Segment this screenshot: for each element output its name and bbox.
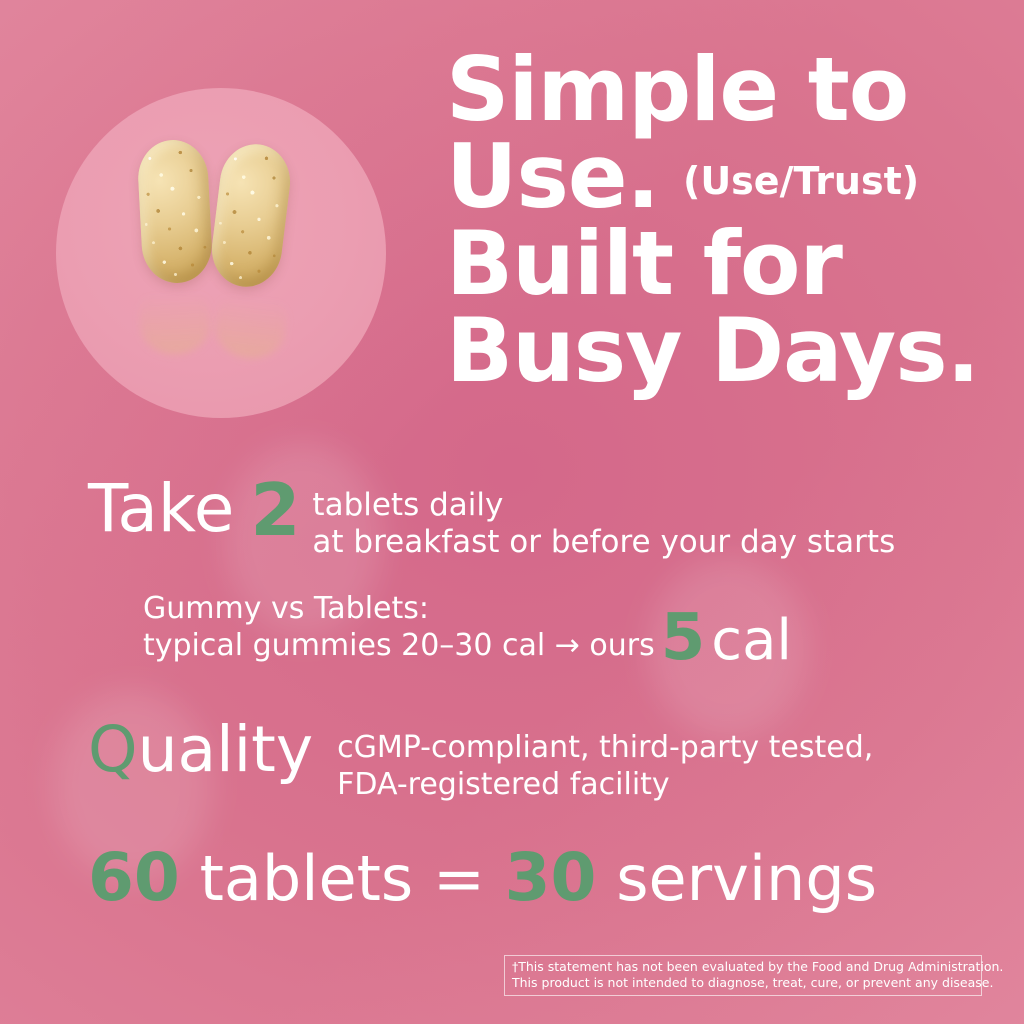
servings-tablets-label: tablets <box>200 842 414 915</box>
tablet-right-icon <box>208 140 295 290</box>
calorie-value-group: 5 cal <box>661 613 792 664</box>
headline: Simple to Use.(Use/Trust) Built for Busy… <box>446 46 1012 394</box>
dose-row: Take 2 tablets daily at breakfast or bef… <box>88 476 895 560</box>
headline-kicker: (Use/Trust) <box>683 159 919 203</box>
fda-disclaimer-line-1: †This statement has not been evaluated b… <box>512 959 974 975</box>
dose-detail-line-2: at breakfast or before your day starts <box>312 524 895 561</box>
dose-detail: tablets daily at breakfast or before you… <box>312 476 895 560</box>
calorie-compare-line-2: typical gummies 20–30 cal → ours <box>143 628 655 665</box>
tablet-reflection-left <box>138 282 212 356</box>
calorie-number: 5 <box>661 613 706 664</box>
servings-tablet-count: 60 <box>88 839 180 916</box>
dose-detail-line-1: tablets daily <box>312 487 895 524</box>
quality-word-rest: uality <box>138 713 314 786</box>
product-tablets-image <box>56 88 386 418</box>
tablet-left-icon <box>136 138 213 284</box>
headline-line-3: Built for <box>446 220 1012 307</box>
calorie-compare-line-1: Gummy vs Tablets: <box>143 591 655 628</box>
headline-line-2: Use.(Use/Trust) <box>446 133 1012 220</box>
servings-row: 60 tablets = 30 servings <box>88 845 877 911</box>
tablet-reflection-right <box>212 284 290 362</box>
headline-line-1: Simple to <box>446 46 1012 133</box>
calorie-unit: cal <box>711 619 792 664</box>
calorie-compare-text: Gummy vs Tablets: typical gummies 20–30 … <box>143 591 655 664</box>
fda-disclaimer: †This statement has not been evaluated b… <box>504 955 982 996</box>
fda-disclaimer-line-2: This product is not intended to diagnose… <box>512 975 974 991</box>
servings-servings-label: servings <box>616 842 877 915</box>
servings-equals: = <box>433 842 485 915</box>
quality-row: Quality cGMP-compliant, third-party test… <box>88 718 873 803</box>
quality-detail-line-1: cGMP-compliant, third-party tested, <box>337 730 873 767</box>
servings-serving-count: 30 <box>505 839 597 916</box>
promo-graphic: Simple to Use.(Use/Trust) Built for Busy… <box>0 0 1024 1024</box>
quality-word: Quality <box>88 718 313 781</box>
dose-lead-label: Take <box>88 476 234 542</box>
dose-number: 2 <box>250 476 300 545</box>
calorie-compare-row: Gummy vs Tablets: typical gummies 20–30 … <box>143 591 792 664</box>
quality-accent-letter: Q <box>88 713 138 786</box>
headline-line-4: Busy Days. <box>446 307 1012 394</box>
quality-detail-line-2: FDA-registered facility <box>337 767 873 804</box>
quality-detail: cGMP-compliant, third-party tested, FDA-… <box>337 718 873 803</box>
